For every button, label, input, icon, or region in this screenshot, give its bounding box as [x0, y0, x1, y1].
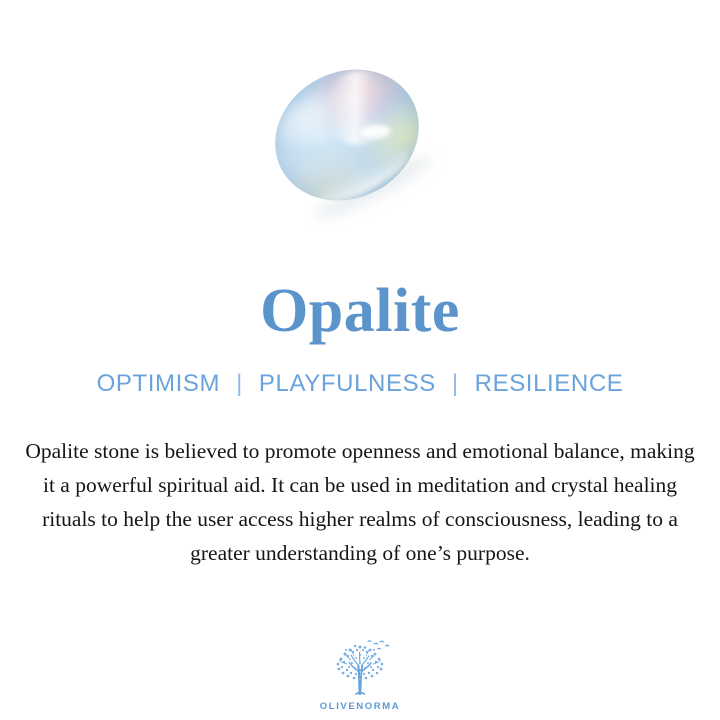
stone-body [252, 45, 441, 224]
stone-image-area [0, 0, 720, 280]
keyword-playfulness: PLAYFULNESS [259, 370, 436, 398]
opalite-stone-image [252, 45, 441, 224]
brand-logo: OLIVENORMA [0, 638, 720, 712]
opalite-info-card: Opalite OPTIMISM | PLAYFULNESS | RESILIE… [0, 0, 720, 720]
tree-icon [327, 638, 393, 700]
keyword-optimism: OPTIMISM [97, 370, 220, 398]
page-title: Opalite [260, 280, 460, 342]
brand-wordmark: OLIVENORMA [320, 701, 400, 712]
keyword-resilience: RESILIENCE [475, 370, 624, 398]
description-block: Opalite stone is believed to promote ope… [24, 434, 696, 570]
keyword-separator: | [234, 370, 245, 398]
keyword-list: OPTIMISM | PLAYFULNESS | RESILIENCE [97, 370, 624, 398]
description-text: Opalite stone is believed to promote ope… [24, 434, 696, 570]
keyword-separator: | [450, 370, 461, 398]
